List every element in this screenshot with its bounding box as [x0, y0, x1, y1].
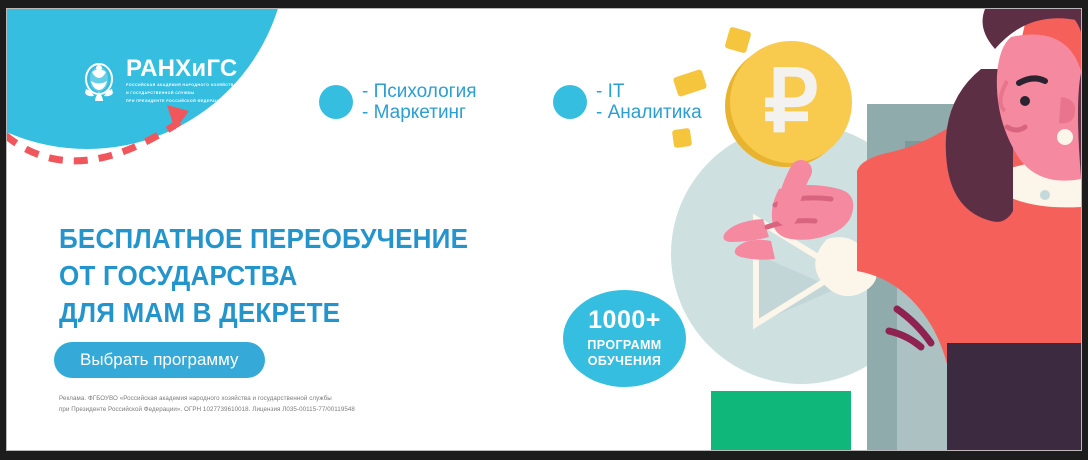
headline-line-2: ОТ ГОСУДАРСТВА — [59, 257, 468, 294]
programs-count-badge: 1000+ ПРОГРАММ ОБУЧЕНИЯ — [563, 290, 686, 387]
bullet-dot-icon — [319, 85, 353, 119]
illustration-artwork: ₽ — [651, 9, 1081, 450]
legal-line-2: при Президенте Российской Федерации». ОГ… — [59, 405, 479, 416]
eagle-crest-icon — [79, 59, 119, 103]
headline-line-3: ДЛЯ МАМ В ДЕКРЕТЕ — [59, 294, 468, 331]
program-group-2: - IT - Аналитика — [553, 81, 702, 124]
banner-stage: ₽ — [7, 9, 1081, 450]
ranepa-logo: РАНХиГС РОССИЙСКАЯ АКАДЕМИЯ НАРОДНОГО ХО… — [79, 57, 237, 104]
badge-line-2: ОБУЧЕНИЯ — [588, 354, 662, 369]
program-group-1-labels: - Психология - Маркетинг — [362, 81, 477, 124]
choose-program-button[interactable]: Выбрать программу — [54, 342, 265, 378]
program-item[interactable]: - IT — [596, 81, 702, 102]
program-item[interactable]: - Психология — [362, 81, 477, 102]
screenshot-root: ₽ — [0, 0, 1088, 460]
headline-line-1: БЕСПЛАТНОЕ ПЕРЕОБУЧЕНИЕ — [59, 220, 468, 257]
logo-wordmark: РАНХиГС — [126, 57, 237, 81]
program-group-1: - Психология - Маркетинг — [319, 81, 477, 124]
headline: БЕСПЛАТНОЕ ПЕРЕОБУЧЕНИЕ ОТ ГОСУДАРСТВА Д… — [59, 220, 499, 332]
svg-text:₽: ₽ — [764, 54, 819, 150]
logo-subtitle-line-1: РОССИЙСКАЯ АКАДЕМИЯ НАРОДНОГО ХОЗЯЙСТВА — [126, 83, 237, 89]
dashed-curved-arrow-icon — [7, 105, 269, 183]
green-block — [711, 391, 851, 450]
legal-disclaimer: Реклама. ФГБОУВО «Российская академия на… — [59, 394, 479, 415]
advertisement-banner[interactable]: ₽ — [6, 8, 1082, 451]
bullet-dot-icon — [553, 85, 587, 119]
legal-line-1: Реклама. ФГБОУВО «Российская академия на… — [59, 394, 479, 405]
logo-text-block: РАНХиГС РОССИЙСКАЯ АКАДЕМИЯ НАРОДНОГО ХО… — [126, 57, 237, 104]
badge-number: 1000+ — [588, 308, 661, 333]
program-item[interactable]: - Аналитика — [596, 102, 702, 123]
program-item[interactable]: - Маркетинг — [362, 102, 477, 123]
program-group-2-labels: - IT - Аналитика — [596, 81, 702, 124]
logo-subtitle-line-2: И ГОСУДАРСТВЕННОЙ СЛУЖБЫ — [126, 91, 237, 97]
logo-subtitle-line-3: ПРИ ПРЕЗИДЕНТЕ РОССИЙСКОЙ ФЕДЕРАЦИИ — [126, 99, 237, 105]
badge-line-1: ПРОГРАММ — [587, 338, 661, 353]
